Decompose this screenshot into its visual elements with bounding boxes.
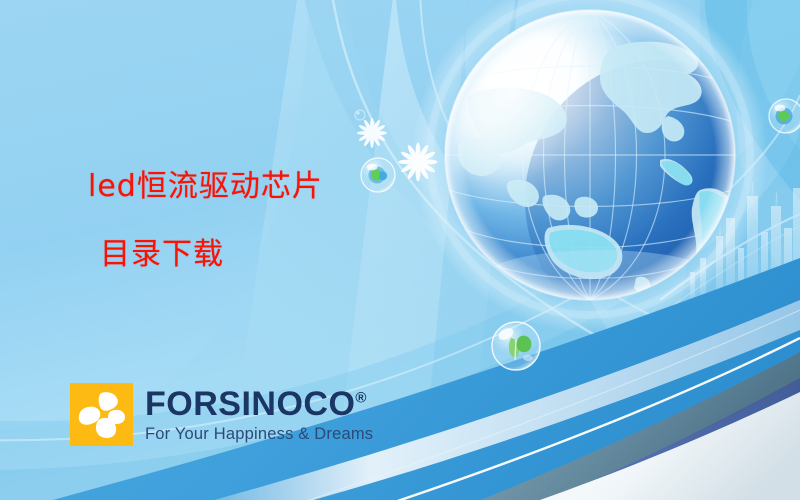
forsinoco-flower-mark (70, 383, 133, 446)
logo-wordmark: FORSINOCO® (145, 387, 373, 421)
bubble-globe-top-right (769, 99, 800, 133)
flower-petal-icon (70, 383, 133, 446)
company-logo: FORSINOCO® For Your Happiness & Dreams (70, 383, 373, 446)
bubble-globe-mid (361, 158, 395, 192)
logo-tagline: For Your Happiness & Dreams (145, 426, 373, 443)
bubble-leaf-lower (492, 322, 540, 370)
logo-wordmark-text: FORSINOCO (145, 385, 355, 423)
registered-trademark-symbol: ® (355, 390, 366, 407)
banner-canvas: led恒流驱动芯片 目录下载 FORSINOCO® For Your Happi… (0, 0, 800, 500)
headline-line-1: led恒流驱动芯片 (88, 172, 323, 202)
headline-line-2: 目录下载 (100, 240, 224, 270)
logo-text-block: FORSINOCO® For Your Happiness & Dreams (145, 383, 373, 443)
